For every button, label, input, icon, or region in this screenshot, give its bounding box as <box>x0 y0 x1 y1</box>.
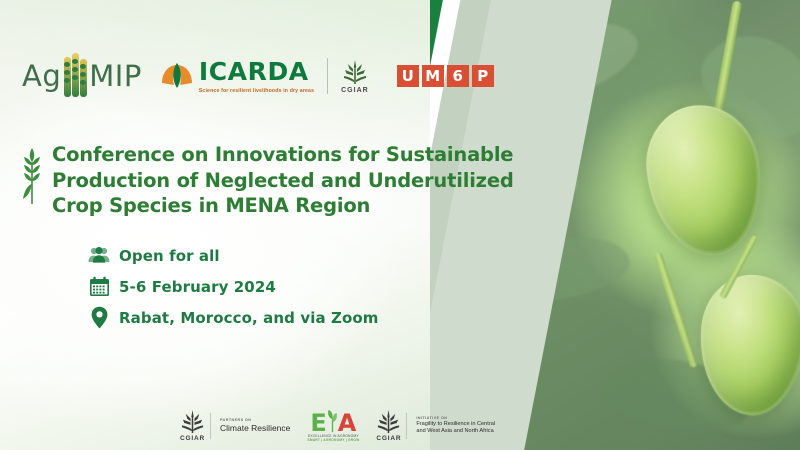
partner-divider <box>406 413 407 439</box>
icarda-leaf-icon <box>160 61 194 91</box>
icarda-name: ICARDA <box>199 59 314 84</box>
title-line-3: Crop Species in MENA Region <box>52 193 514 219</box>
partner-name: Fragility to Resilience in Central and W… <box>416 421 504 435</box>
eia-subtitle-2: SMART | AGRONOMY | GROW <box>307 438 359 442</box>
detail-date: 5-6 February 2024 <box>88 274 379 299</box>
um6p-letter-p: P <box>472 65 494 87</box>
um6p-logo: U M 6 P <box>397 65 494 87</box>
partner-kicker: INITIATIVE ON <box>416 416 504 420</box>
cgiar-wheat-icon <box>342 59 368 85</box>
icarda-logo: ICARDA Science for resilient livelihoods… <box>160 59 314 94</box>
wheat-stalks-icon <box>62 53 88 99</box>
page-title: Conference on Innovations for Sustainabl… <box>52 142 514 219</box>
cgiar-logo: CGIAR <box>341 59 369 94</box>
partner-kicker: PARTNERS ON <box>220 418 290 422</box>
partner-divider <box>210 413 211 439</box>
eia-letter-a: A <box>338 413 357 433</box>
cgiar-wheat-icon <box>180 409 205 434</box>
detail-location: Rabat, Morocco, and via Zoom <box>88 305 379 330</box>
event-details: Open for all <box>88 243 379 330</box>
cgiar-wordmark: CGIAR <box>376 435 401 442</box>
detail-date-text: 5-6 February 2024 <box>119 278 276 296</box>
agmip-suffix: MIP <box>89 59 142 93</box>
partner-name: Climate Resilience <box>220 423 290 433</box>
partner-fragility-resilience: CGIAR INITIATIVE ON Fragility to Resilie… <box>376 409 504 442</box>
wheat-stalk-icon <box>18 142 46 219</box>
title-block: Conference on Innovations for Sustainabl… <box>18 142 438 219</box>
people-icon <box>88 245 110 267</box>
cgiar-wordmark: CGIAR <box>180 435 205 442</box>
title-line-2: Production of Neglected and Underutilize… <box>52 168 514 194</box>
conference-poster: Ag MIP <box>0 0 800 450</box>
partner-eia: E A EXCELLENCE IN AGRONOMY SMART | AGRON… <box>304 409 362 442</box>
partner-logos: CGIAR PARTNERS ON Climate Resilience E <box>180 409 504 442</box>
detail-audience: Open for all <box>88 243 379 268</box>
calendar-icon <box>88 276 110 298</box>
agmip-logo: Ag MIP <box>22 52 142 100</box>
location-pin-icon <box>88 307 110 329</box>
logo-row: Ag MIP <box>22 52 494 100</box>
detail-audience-text: Open for all <box>119 247 220 265</box>
agmip-prefix: Ag <box>22 59 61 93</box>
partner-climate-resilience: CGIAR PARTNERS ON Climate Resilience <box>180 409 290 442</box>
eia-icon: E A <box>310 409 356 433</box>
um6p-letter-6: 6 <box>447 65 469 87</box>
cgiar-wheat-icon <box>376 409 401 434</box>
detail-location-text: Rabat, Morocco, and via Zoom <box>119 309 379 327</box>
um6p-letter-u: U <box>397 65 419 87</box>
icarda-tagline: Science for resilient livelihoods in dry… <box>199 88 314 94</box>
um6p-letter-m: M <box>422 65 444 87</box>
cgiar-wordmark: CGIAR <box>341 87 369 94</box>
logo-divider <box>327 58 328 94</box>
eia-letter-e: E <box>310 413 326 433</box>
title-line-1: Conference on Innovations for Sustainabl… <box>52 142 514 168</box>
leaf-icon <box>327 409 338 433</box>
